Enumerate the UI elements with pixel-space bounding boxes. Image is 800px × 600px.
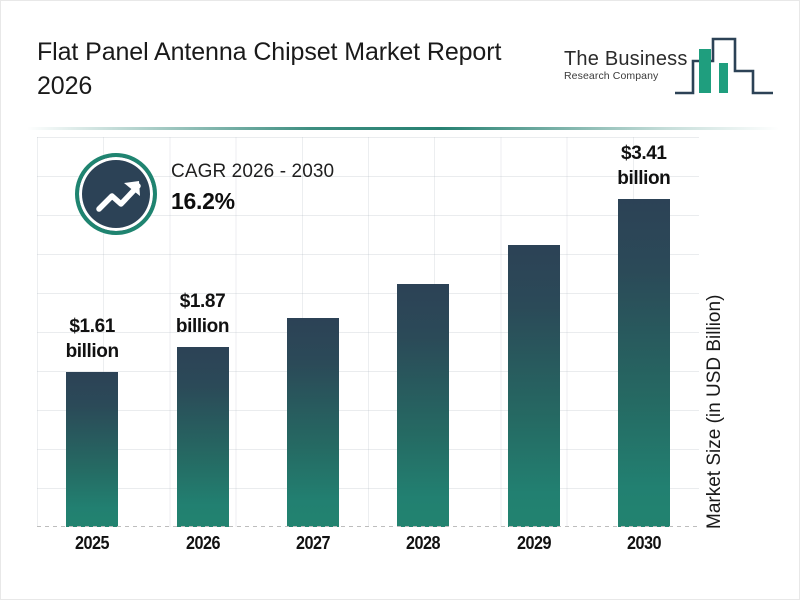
bar-value-amount-2030: $3.41 bbox=[621, 143, 667, 164]
bar-value-amount-2025: $1.61 bbox=[69, 316, 115, 337]
bar-2029[interactable] bbox=[508, 245, 560, 527]
y-axis-title-text: Market Size (in USD Billion) bbox=[704, 295, 726, 529]
page-title: Flat Panel Antenna Chipset Market Report… bbox=[37, 35, 537, 103]
x-axis-tick-2027: 2027 bbox=[263, 533, 362, 554]
header-divider bbox=[27, 127, 779, 130]
x-axis-tick-2028: 2028 bbox=[374, 533, 473, 554]
bar-value-unit-2025: billion bbox=[37, 339, 147, 364]
cagr-badge bbox=[75, 153, 157, 235]
cagr-value-label: 16.2% bbox=[171, 185, 401, 217]
x-axis-tick-2029: 2029 bbox=[484, 533, 583, 554]
cagr-callout: CAGR 2026 - 2030 16.2% bbox=[75, 153, 405, 245]
bar-2026[interactable] bbox=[177, 347, 229, 527]
y-axis-title: Market Size (in USD Billion) bbox=[704, 0, 726, 219]
chart-page: Flat Panel Antenna Chipset Market Report… bbox=[0, 0, 800, 600]
bar-slot-2029 bbox=[479, 137, 589, 527]
bar-value-unit-2030: billion bbox=[589, 166, 699, 191]
bar-2027[interactable] bbox=[287, 318, 339, 527]
bar-2025[interactable] bbox=[66, 372, 118, 527]
bar-slot-2030: $3.41billion bbox=[589, 137, 699, 527]
company-logo: The Business Research Company bbox=[561, 31, 776, 103]
bar-value-label-2026: $1.87billion bbox=[148, 289, 258, 339]
cagr-text-block: CAGR 2026 - 2030 16.2% bbox=[171, 159, 401, 217]
bar-value-label-2030: $3.41billion bbox=[589, 141, 699, 191]
x-axis-tick-2026: 2026 bbox=[153, 533, 252, 554]
bar-2028[interactable] bbox=[397, 284, 449, 527]
cagr-period-label: CAGR 2026 - 2030 bbox=[171, 159, 401, 185]
bar-value-amount-2026: $1.87 bbox=[180, 291, 226, 312]
x-axis: 202520262027202820292030 bbox=[37, 533, 699, 563]
x-axis-tick-2030: 2030 bbox=[594, 533, 693, 554]
bar-value-unit-2026: billion bbox=[148, 314, 258, 339]
header: Flat Panel Antenna Chipset Market Report… bbox=[1, 1, 800, 123]
logo-line-secondary: Research Company bbox=[564, 70, 689, 83]
bar-value-label-2025: $1.61billion bbox=[37, 314, 147, 364]
bar-2030[interactable] bbox=[618, 199, 670, 527]
x-axis-tick-2025: 2025 bbox=[43, 533, 142, 554]
trending-up-arrow-icon bbox=[95, 175, 145, 221]
chart-baseline bbox=[37, 526, 699, 527]
logo-line-primary: The Business bbox=[564, 49, 689, 70]
logo-wordmark: The Business Research Company bbox=[564, 49, 689, 83]
